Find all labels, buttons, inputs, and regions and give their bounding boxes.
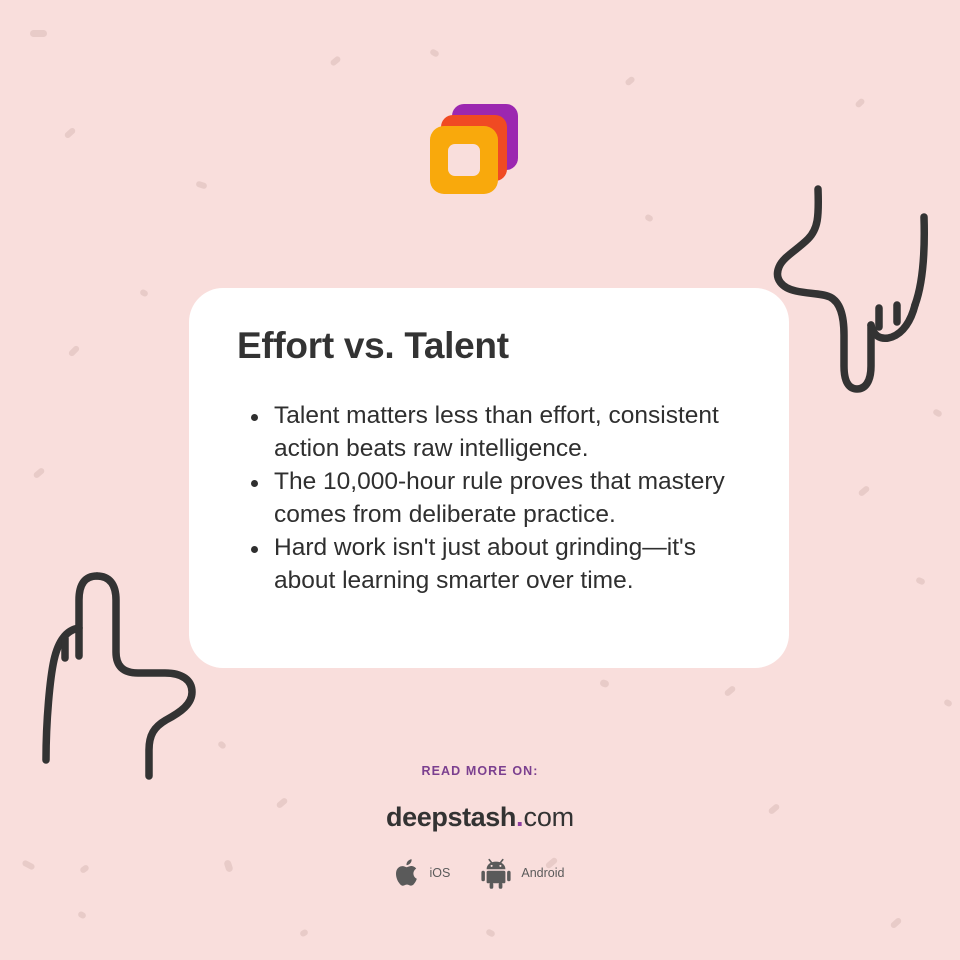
- confetti-speck: [915, 576, 926, 585]
- confetti-speck: [723, 685, 736, 697]
- confetti-speck: [429, 48, 440, 58]
- confetti-speck: [890, 917, 903, 929]
- ios-label: iOS: [430, 866, 451, 880]
- ios-store-badge[interactable]: iOS: [396, 858, 451, 888]
- confetti-speck: [854, 97, 865, 108]
- idea-card: Effort vs. Talent Talent matters less th…: [189, 288, 789, 668]
- confetti-speck: [329, 55, 341, 67]
- confetti-speck: [299, 928, 309, 937]
- footer: READ MORE ON: deepstash.com iOS: [0, 764, 960, 889]
- deepstash-wordmark[interactable]: deepstash.com: [0, 804, 960, 831]
- confetti-speck: [485, 928, 496, 938]
- logo-inner-cutout: [448, 144, 480, 176]
- confetti-speck: [624, 75, 636, 86]
- apple-icon: [396, 858, 421, 888]
- confetti-speck: [77, 910, 87, 919]
- confetti-speck: [195, 180, 207, 189]
- page-title: Effort vs. Talent: [237, 326, 743, 367]
- android-icon: [480, 857, 512, 889]
- confetti-speck: [139, 288, 149, 297]
- android-store-badge[interactable]: Android: [480, 857, 564, 889]
- list-item: The 10,000-hour rule proves that mastery…: [237, 465, 743, 531]
- confetti-speck: [30, 30, 47, 37]
- list-item: Talent matters less than effort, consist…: [237, 399, 743, 465]
- android-label: Android: [521, 866, 564, 880]
- wordmark-name: deepstash: [386, 802, 516, 832]
- list-item: Hard work isn't just about grinding—it's…: [237, 531, 743, 597]
- read-more-label: READ MORE ON:: [0, 764, 960, 778]
- confetti-speck: [217, 740, 227, 750]
- confetti-speck: [644, 213, 654, 222]
- confetti-speck: [932, 408, 943, 418]
- wordmark-tld: com: [524, 802, 574, 832]
- confetti-speck: [32, 467, 45, 479]
- confetti-speck: [857, 485, 870, 497]
- poster-canvas: Effort vs. Talent Talent matters less th…: [0, 0, 960, 960]
- app-store-badges: iOS: [0, 857, 960, 889]
- confetti-speck: [64, 127, 77, 139]
- wordmark-dot: .: [516, 802, 524, 832]
- confetti-speck: [68, 345, 81, 358]
- confetti-speck: [599, 679, 610, 689]
- insight-bullet-list: Talent matters less than effort, consist…: [237, 399, 743, 597]
- confetti-speck: [943, 698, 953, 707]
- deepstash-logo-icon: [428, 104, 520, 196]
